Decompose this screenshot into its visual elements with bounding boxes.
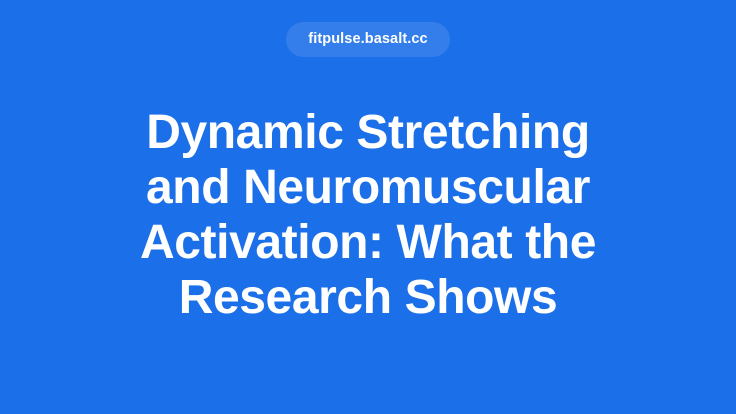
page-title-line-2: and Neuromuscular: [58, 160, 678, 215]
badge-row: fitpulse.basalt.cc: [0, 22, 736, 57]
site-domain-badge[interactable]: fitpulse.basalt.cc: [286, 22, 449, 57]
page-title-line-4: Research Shows: [58, 270, 678, 325]
page-title-line-3: Activation: What the: [58, 215, 678, 270]
page-title-line-1: Dynamic Stretching: [58, 105, 678, 160]
headline-container: Dynamic Stretching and Neuromuscular Act…: [0, 57, 736, 414]
social-share-card: fitpulse.basalt.cc Dynamic Stretching an…: [0, 0, 736, 414]
page-title: Dynamic Stretching and Neuromuscular Act…: [58, 105, 678, 325]
